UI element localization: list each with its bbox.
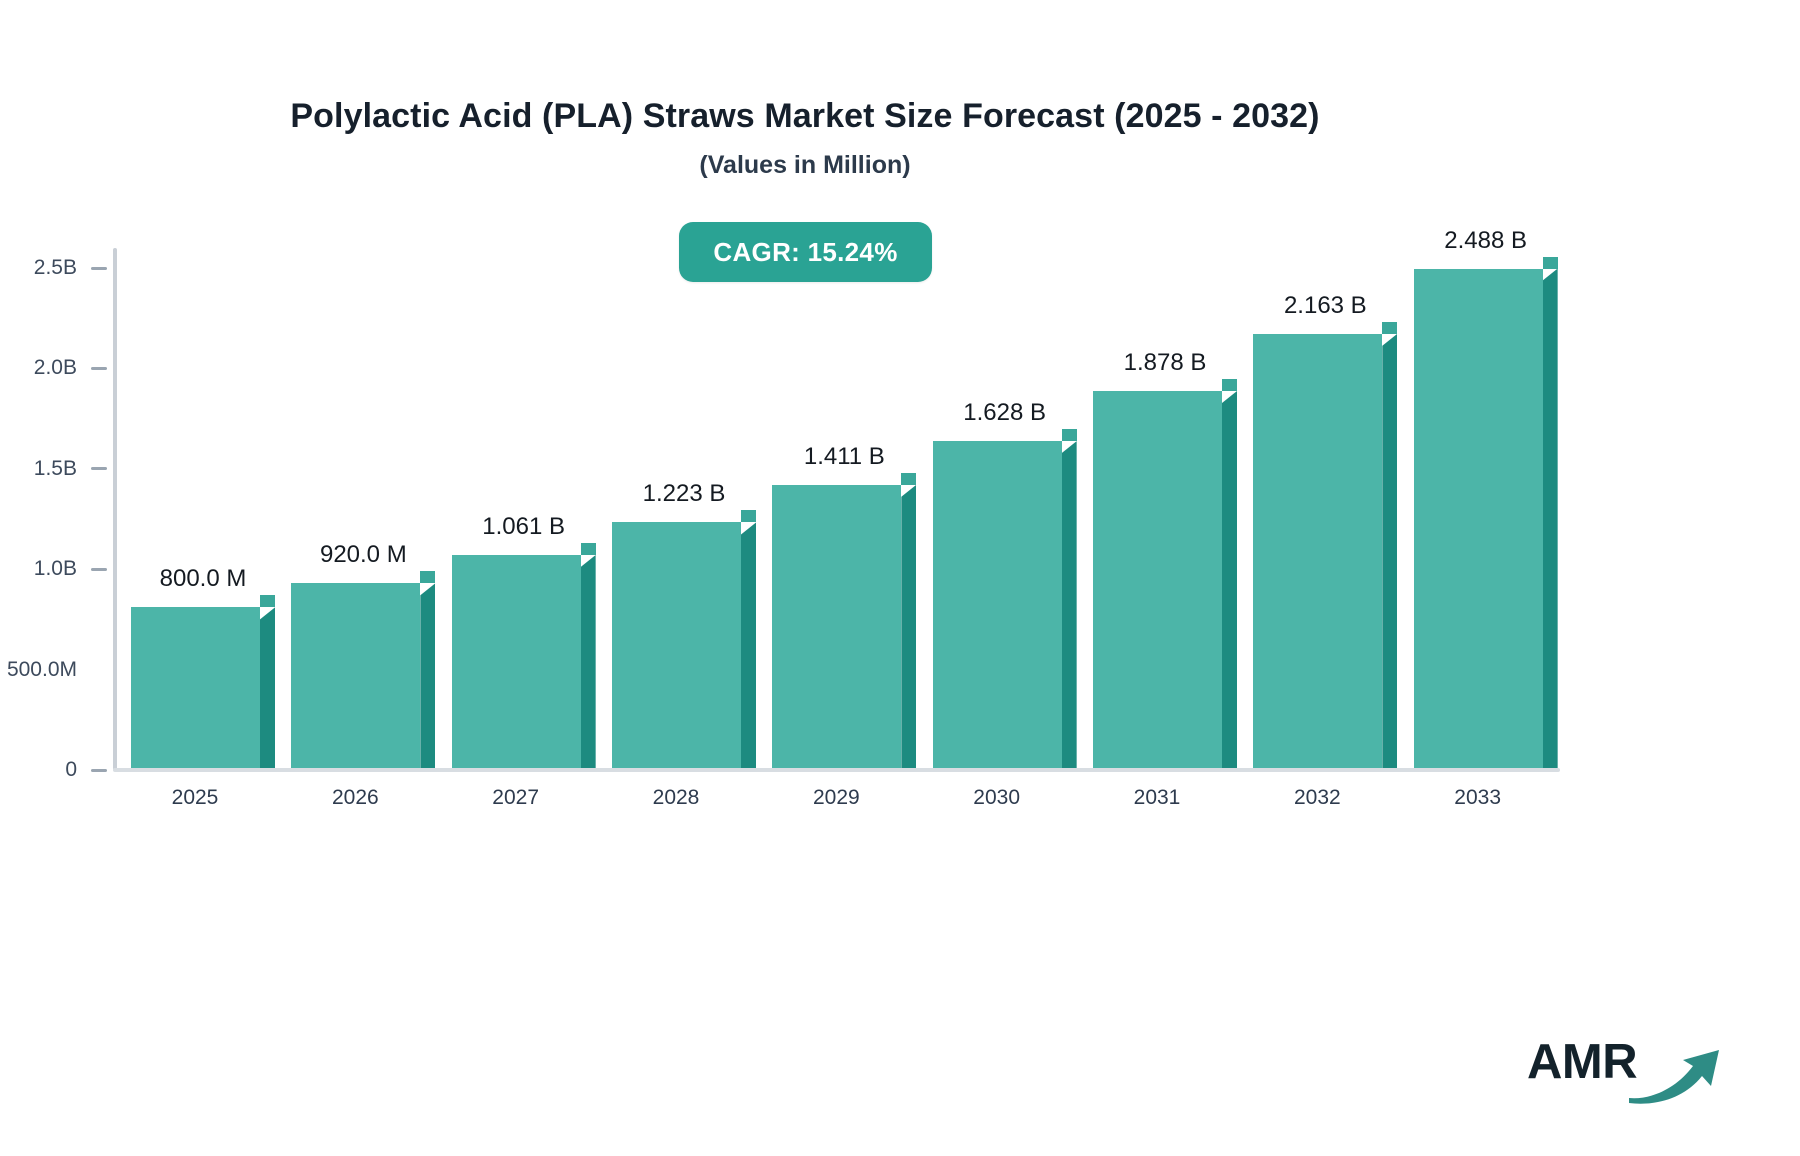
bar[interactable]: 920.0 M <box>291 583 420 768</box>
bar-side-face <box>581 555 596 768</box>
x-tick-label: 2032 <box>1245 786 1389 810</box>
x-tick-label: 2029 <box>764 786 908 810</box>
bar-side-face <box>1062 441 1077 768</box>
bar[interactable]: 1.878 B <box>1093 391 1222 768</box>
bar-value-label: 2.163 B <box>1253 292 1397 320</box>
logo-text: AMR <box>1527 1034 1637 1090</box>
y-tick-text: 1.5B <box>0 457 77 481</box>
y-tick-text: 1.0B <box>0 557 77 581</box>
x-tick-label: 2027 <box>444 786 588 810</box>
y-tick-label: 2.0B <box>0 356 113 380</box>
bar-front-face <box>1253 334 1382 768</box>
y-tick-dash <box>91 367 107 370</box>
bar-top-face <box>741 510 756 522</box>
bar-front-face <box>291 583 420 768</box>
bar-side-face <box>741 522 756 768</box>
bar-value-label: 1.878 B <box>1093 349 1237 377</box>
chart-title: Polylactic Acid (PLA) Straws Market Size… <box>0 96 1610 137</box>
bar-top-face <box>1222 379 1237 391</box>
bar[interactable]: 2.163 B <box>1253 334 1382 768</box>
bar[interactable]: 2.488 B <box>1414 269 1543 769</box>
bar-side-face <box>901 485 916 768</box>
bar-value-label: 1.628 B <box>933 399 1077 427</box>
y-tick-label: 2.5B <box>0 256 113 280</box>
bar-front-face <box>772 485 901 768</box>
bar-side-face <box>420 583 435 768</box>
bar[interactable]: 1.223 B <box>612 522 741 768</box>
y-tick-label: 1.0B <box>0 557 113 581</box>
y-tick-label: 500.0M <box>0 658 113 682</box>
y-tick-dash <box>91 467 107 470</box>
bar-top-face <box>901 473 916 485</box>
bar-value-label: 1.223 B <box>612 480 756 508</box>
bar-value-label: 1.061 B <box>452 513 596 541</box>
y-tick-text: 500.0M <box>0 658 77 682</box>
chart-subtitle: (Values in Million) <box>0 151 1610 180</box>
x-tick-label: 2031 <box>1085 786 1229 810</box>
bar-side-face <box>260 607 275 768</box>
x-tick-label: 2030 <box>925 786 1069 810</box>
bar-value-label: 1.411 B <box>772 443 916 471</box>
bar-value-label: 800.0 M <box>131 565 275 593</box>
bar-top-face <box>420 571 435 583</box>
y-tick-dash <box>91 668 107 671</box>
title-block: Polylactic Acid (PLA) Straws Market Size… <box>0 96 1610 180</box>
bar-top-face <box>1382 322 1397 334</box>
bar-top-face <box>1543 257 1558 269</box>
chart-container: Polylactic Acid (PLA) Straws Market Size… <box>0 0 1800 1156</box>
bar-side-face <box>1222 391 1237 768</box>
y-tick-text: 0 <box>0 758 77 782</box>
bar-side-face <box>1543 269 1558 769</box>
bar-front-face <box>1414 269 1543 769</box>
bar[interactable]: 1.061 B <box>452 555 581 768</box>
y-tick-dash <box>91 267 107 270</box>
x-tick-label: 2028 <box>604 786 748 810</box>
y-tick-text: 2.5B <box>0 256 77 280</box>
bar-front-face <box>612 522 741 768</box>
bar-front-face <box>452 555 581 768</box>
bar[interactable]: 800.0 M <box>131 607 260 768</box>
bar[interactable]: 1.628 B <box>933 441 1062 768</box>
growth-arrow-icon <box>1627 1046 1723 1104</box>
y-tick-label: 1.5B <box>0 457 113 481</box>
bar-side-face <box>1382 334 1397 768</box>
x-tick-label: 2033 <box>1406 786 1550 810</box>
y-tick-label: 0 <box>0 758 113 782</box>
bar[interactable]: 1.411 B <box>772 485 901 768</box>
x-tick-label: 2025 <box>123 786 267 810</box>
bar-top-face <box>1062 429 1077 441</box>
amr-logo: AMR <box>1527 1028 1717 1108</box>
bar-value-label: 2.488 B <box>1414 227 1558 255</box>
bar-value-label: 920.0 M <box>291 541 435 569</box>
bars-group: 800.0 M2025920.0 M20261.061 B20271.223 B… <box>117 200 1560 770</box>
bar-top-face <box>581 543 596 555</box>
bar-front-face <box>1093 391 1222 768</box>
bar-front-face <box>933 441 1062 768</box>
y-tick-text: 2.0B <box>0 356 77 380</box>
y-tick-dash <box>91 769 107 772</box>
plot-area: 2.5B2.0B1.5B1.0B500.0M0 800.0 M2025920.0… <box>113 200 1563 772</box>
bar-front-face <box>131 607 260 768</box>
y-tick-dash <box>91 568 107 571</box>
x-tick-label: 2026 <box>283 786 427 810</box>
bar-top-face <box>260 595 275 607</box>
